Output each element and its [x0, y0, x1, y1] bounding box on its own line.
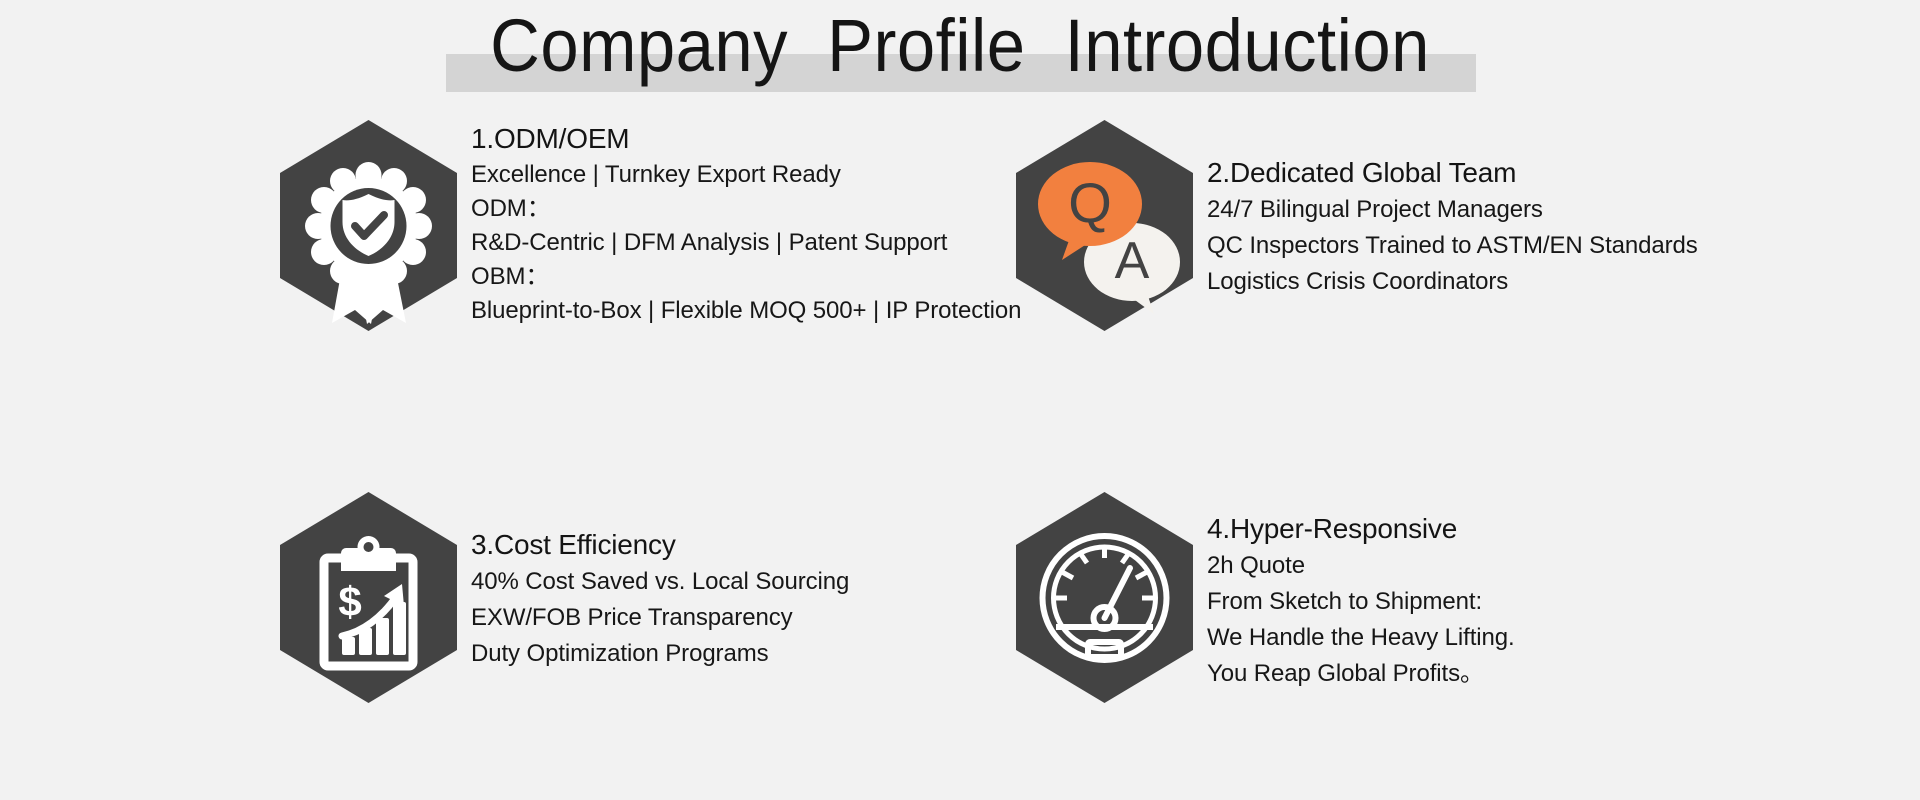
- card-title: 2.Dedicated Global Team: [1207, 156, 1698, 190]
- card-title: 1.ODM/OEM: [471, 122, 1021, 156]
- card-line: You Reap Global Profits。: [1207, 656, 1515, 692]
- card-line: OBM：: [471, 260, 1021, 294]
- feature-card-text: 1.ODM/OEM Excellence | Turnkey Export Re…: [461, 118, 1021, 328]
- page-title: Company Profile Introduction: [67, 0, 1853, 92]
- card-title: 3.Cost Efficiency: [471, 528, 849, 562]
- speedometer-gauge-icon-wrapper: [1012, 490, 1197, 705]
- card-line: R&D-Centric | DFM Analysis | Patent Supp…: [471, 226, 1021, 260]
- feature-card-cost-efficiency: $ 3.Cost Efficiency 40% Cost Saved vs. L…: [276, 490, 849, 705]
- feature-card-text: 3.Cost Efficiency 40% Cost Saved vs. Loc…: [461, 490, 849, 672]
- page-header: Company Profile Introduction: [0, 0, 1920, 110]
- card-title: 4.Hyper-Responsive: [1207, 512, 1515, 546]
- card-line: 2h Quote: [1207, 548, 1515, 584]
- award-badge-icon-wrapper: [276, 118, 461, 333]
- card-line: Excellence | Turnkey Export Ready: [471, 158, 1021, 192]
- svg-text:A: A: [1115, 232, 1150, 290]
- card-line: ODM：: [471, 192, 1021, 226]
- card-line: 40% Cost Saved vs. Local Sourcing: [471, 564, 849, 600]
- card-line: We Handle the Heavy Lifting.: [1207, 620, 1515, 656]
- feature-card-hyper-responsive: 4.Hyper-Responsive 2h Quote From Sketch …: [1012, 490, 1515, 705]
- feature-card-dedicated-global-team: A Q 2.Dedicated Global Team 24/7 Bilingu…: [1012, 118, 1698, 333]
- feature-card-text: 2.Dedicated Global Team 24/7 Bilingual P…: [1197, 118, 1698, 300]
- card-line: EXW/FOB Price Transparency: [471, 600, 849, 636]
- clipboard-growth-chart-icon-wrapper: $: [276, 490, 461, 705]
- speedometer-gauge-icon: [1012, 490, 1197, 705]
- feature-card-grid: 1.ODM/OEM Excellence | Turnkey Export Re…: [0, 110, 1920, 800]
- feature-card-text: 4.Hyper-Responsive 2h Quote From Sketch …: [1197, 490, 1515, 692]
- card-line: Duty Optimization Programs: [471, 636, 849, 672]
- card-line: 24/7 Bilingual Project Managers: [1207, 192, 1698, 228]
- qa-speech-bubbles-icon-wrapper: A Q: [1012, 118, 1197, 333]
- svg-text:$: $: [338, 578, 361, 625]
- feature-card-odm-oem: 1.ODM/OEM Excellence | Turnkey Export Re…: [276, 118, 1021, 333]
- card-line: Logistics Crisis Coordinators: [1207, 264, 1698, 300]
- card-line: Blueprint-to-Box | Flexible MOQ 500+ | I…: [471, 294, 1021, 328]
- card-line: QC Inspectors Trained to ASTM/EN Standar…: [1207, 228, 1698, 264]
- clipboard-growth-chart-icon: $: [276, 490, 461, 705]
- svg-text:Q: Q: [1068, 171, 1112, 234]
- award-badge-icon: [276, 118, 461, 333]
- qa-speech-bubbles-icon: A Q: [1012, 118, 1197, 333]
- card-line: From Sketch to Shipment:: [1207, 584, 1515, 620]
